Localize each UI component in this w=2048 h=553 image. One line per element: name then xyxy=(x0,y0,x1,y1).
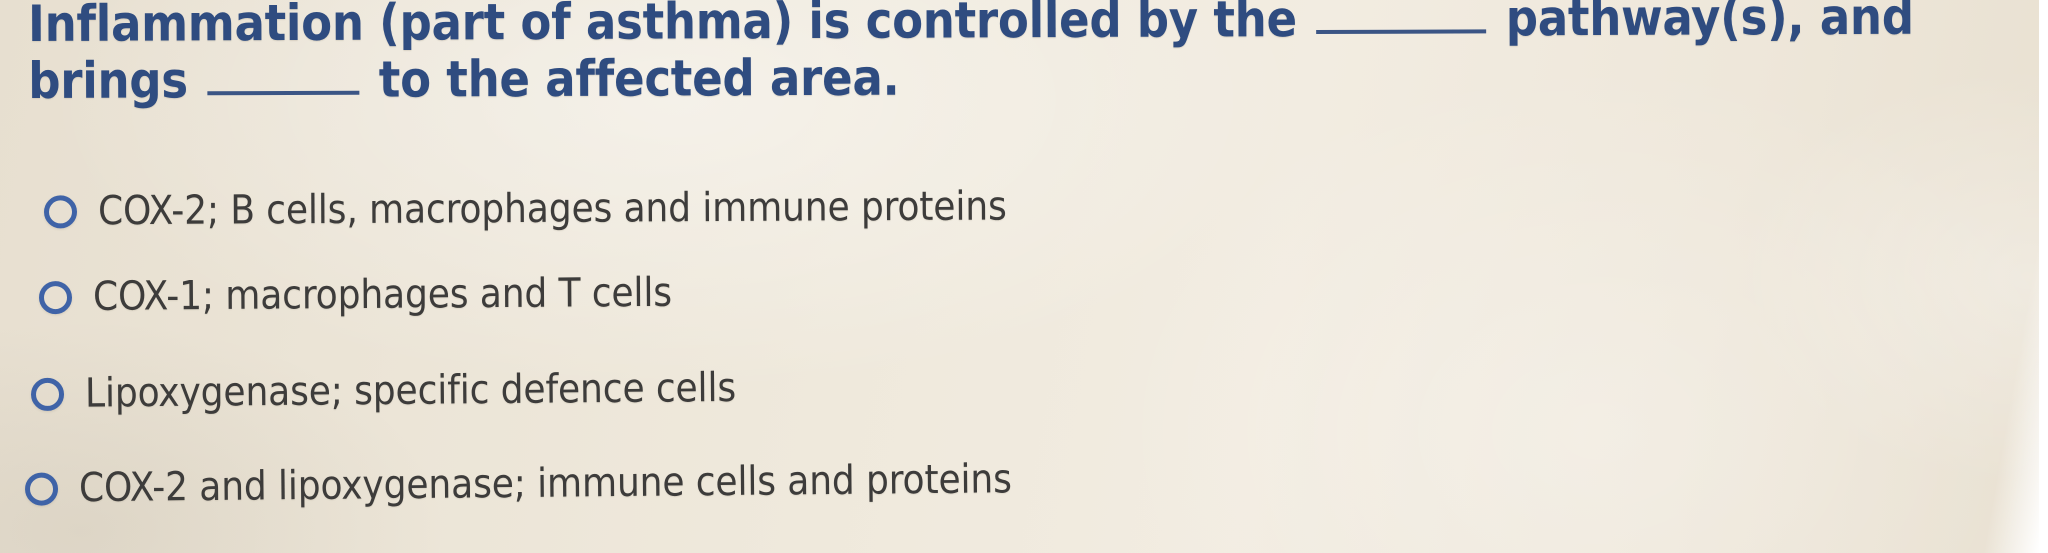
question-prompt: Inflammation (part of asthma) is control… xyxy=(28,0,2034,110)
answer-option-a[interactable]: COX-2; B cells, macrophages and immune p… xyxy=(44,184,1007,233)
answer-option-d[interactable]: COX-2 and lipoxygenase; immune cells and… xyxy=(25,457,1012,510)
quiz-question-screen: Inflammation (part of asthma) is control… xyxy=(0,0,2048,553)
question-text-part-1: Inflammation (part of asthma) is control… xyxy=(28,0,1297,53)
answer-blank-2 xyxy=(207,91,359,96)
answer-option-c-label: Lipoxygenase; specific defence cells xyxy=(85,366,736,416)
answer-option-a-label: COX-2; B cells, macrophages and immune p… xyxy=(98,184,1007,233)
radio-unchecked-icon[interactable] xyxy=(44,195,77,228)
answer-option-b[interactable]: COX-1; macrophages and T cells xyxy=(39,271,672,319)
question-text-part-3: to the affected area. xyxy=(379,49,900,109)
answer-blank-1 xyxy=(1316,29,1486,34)
answer-option-c[interactable]: Lipoxygenase; specific defence cells xyxy=(31,366,736,416)
answer-option-d-label: COX-2 and lipoxygenase; immune cells and… xyxy=(79,457,1012,510)
answer-option-b-label: COX-1; macrophages and T cells xyxy=(93,271,672,319)
radio-unchecked-icon[interactable] xyxy=(25,472,58,505)
radio-unchecked-icon[interactable] xyxy=(31,377,64,410)
radio-unchecked-icon[interactable] xyxy=(39,280,72,313)
